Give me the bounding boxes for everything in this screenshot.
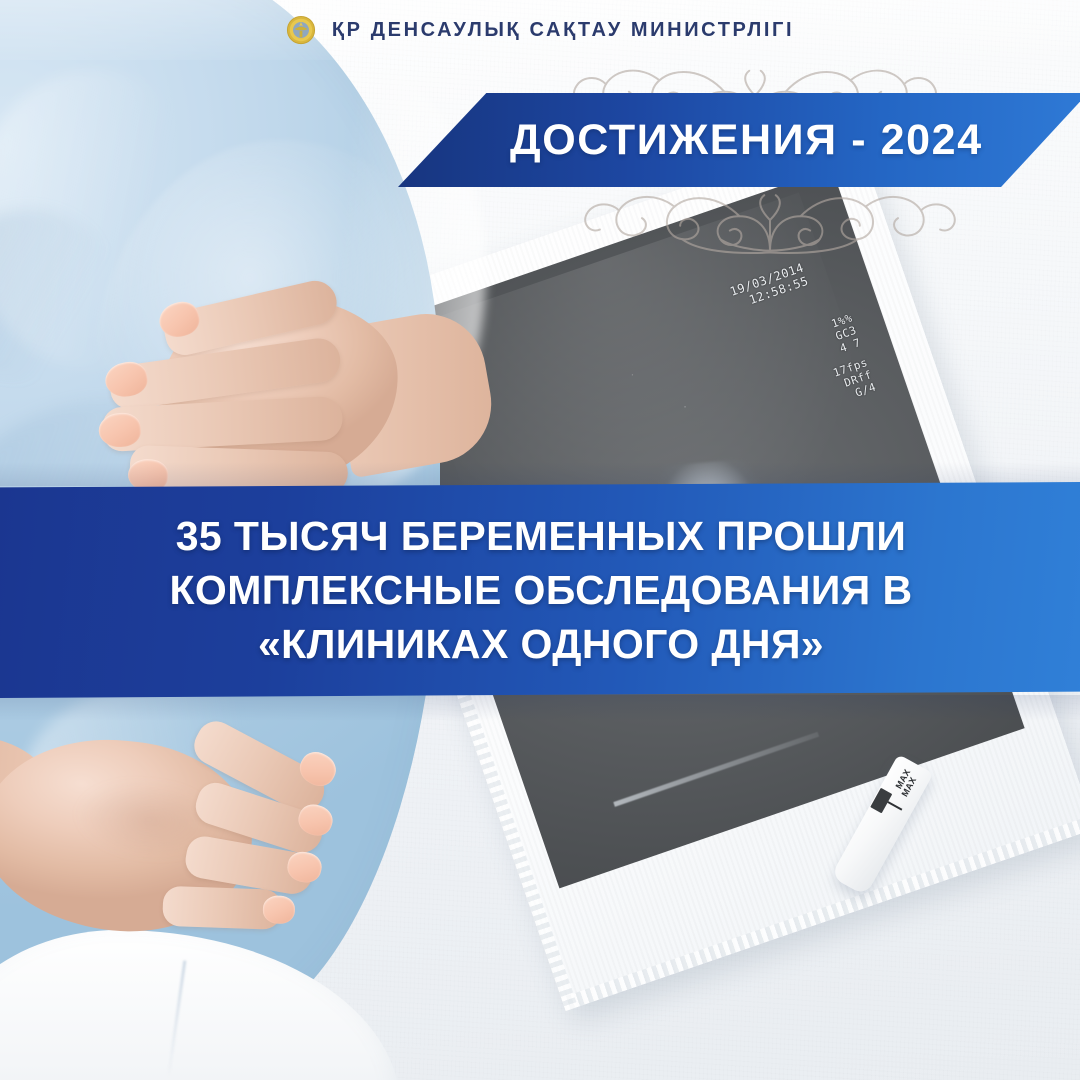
kazakhstan-state-emblem-icon — [286, 15, 316, 45]
fingernail — [262, 895, 295, 924]
headline-line-3: «КЛИНИКАХ ОДНОГО ДНЯ» — [81, 617, 1001, 671]
ministry-title: ҚР ДЕНСАУЛЫҚ САҚТАУ МИНИСТРЛІГІ — [332, 19, 794, 42]
achievements-label: ДОСТИЖЕНИЯ - 2024 — [510, 116, 983, 165]
ministry-header: ҚР ДЕНСАУЛЫҚ САҚТАУ МИНИСТРЛІГІ — [0, 12, 1080, 48]
lower-hand — [0, 704, 382, 1006]
achievements-ribbon: ДОСТИЖЕНИЯ - 2024 — [398, 93, 1080, 187]
headline-line-2: КОМПЛЕКСНЫЕ ОБСЛЕДОВАНИЯ В — [81, 563, 1001, 617]
headline-line-1: 35 ТЫСЯЧ БЕРЕМЕННЫХ ПРОШЛИ — [81, 509, 1001, 563]
headline-band: 35 ТЫСЯЧ БЕРЕМЕННЫХ ПРОШЛИ КОМПЛЕКСНЫЕ О… — [0, 482, 1080, 698]
headline-text-block: 35 ТЫСЯЧ БЕРЕМЕННЫХ ПРОШЛИ КОМПЛЕКСНЫЕ О… — [51, 509, 1031, 671]
poster-canvas: OB/GYN 19/03/2014 12:58:55 1%% GC3 4 7 1… — [0, 0, 1080, 1080]
